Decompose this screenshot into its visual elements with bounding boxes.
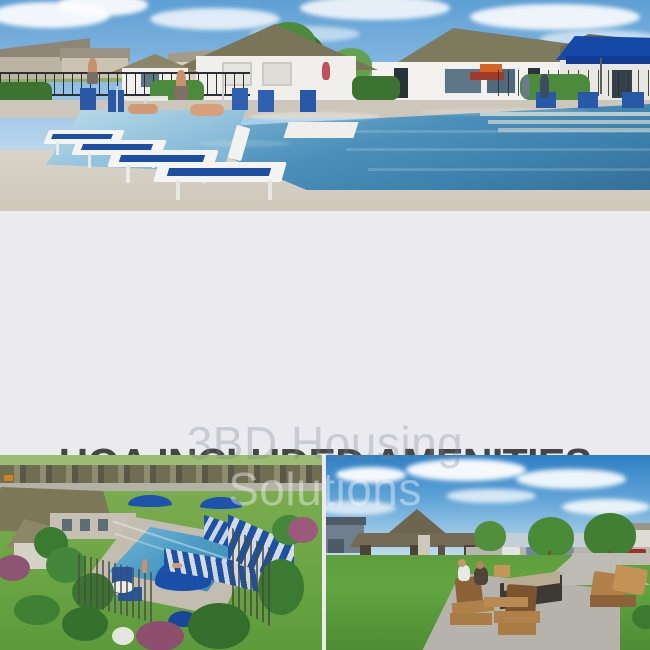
cloud xyxy=(516,469,626,489)
cloud xyxy=(150,8,280,30)
pool-ladder xyxy=(116,86,118,112)
lounge-chair xyxy=(283,122,358,138)
person-head xyxy=(458,559,466,567)
window xyxy=(262,62,292,86)
flowering-shrub xyxy=(112,627,134,645)
pool-step xyxy=(480,112,650,116)
bottom-right-pavilion-image xyxy=(326,455,650,650)
patio-chair xyxy=(300,90,316,112)
cloud xyxy=(446,489,536,503)
parked-car xyxy=(502,547,520,555)
adirondack-chair-seat xyxy=(494,611,540,623)
amenities-text-band: HOA INCLUDED AMENITIES Swimming Pool • P… xyxy=(0,211,650,455)
distant-house-roof xyxy=(326,517,366,525)
person xyxy=(322,62,330,80)
water-ripple xyxy=(250,112,380,121)
flowering-shrub xyxy=(136,621,184,650)
cloud xyxy=(470,4,640,30)
adirondack-chair-seat xyxy=(590,595,636,607)
window xyxy=(80,519,90,531)
person-seated xyxy=(474,567,488,585)
amenities-marketing-card: HOA INCLUDED AMENITIES Swimming Pool • P… xyxy=(0,0,650,650)
person xyxy=(522,76,530,98)
adirondack-chair-arm xyxy=(484,597,528,607)
garage-door xyxy=(328,539,344,553)
patio-chair xyxy=(578,92,598,108)
pool-step xyxy=(488,120,650,124)
pool-lane-line xyxy=(346,148,650,151)
lounge-chair xyxy=(150,150,290,202)
patio-chair xyxy=(258,90,274,112)
pool-step xyxy=(498,128,650,132)
shade-canopy-edge xyxy=(566,56,650,64)
side-table xyxy=(494,565,510,577)
shrub xyxy=(14,595,60,625)
adirondack-chair xyxy=(612,564,648,595)
person xyxy=(540,74,549,98)
person xyxy=(142,559,147,573)
flowering-shrub xyxy=(288,517,318,543)
cloud xyxy=(336,467,406,483)
construction-vehicle xyxy=(4,475,13,481)
patio-chair xyxy=(232,88,248,110)
person-seated xyxy=(128,104,158,114)
patio-chair xyxy=(622,92,644,108)
person-seated xyxy=(458,565,470,581)
window xyxy=(62,519,72,531)
hedge xyxy=(352,76,400,100)
person xyxy=(172,563,182,568)
patio-umbrella xyxy=(200,497,242,509)
tree xyxy=(474,521,506,551)
cloud xyxy=(406,459,526,481)
person-head xyxy=(476,561,484,569)
patio-table xyxy=(126,96,168,101)
tree xyxy=(528,517,574,557)
image-divider xyxy=(322,455,326,650)
chair-footrest xyxy=(498,623,536,635)
patio-umbrella xyxy=(128,495,172,507)
person xyxy=(87,72,98,84)
bottom-left-aerial-pool-image xyxy=(0,455,322,650)
chair-footrest xyxy=(450,613,492,625)
shrub xyxy=(62,607,108,641)
window xyxy=(98,519,108,531)
person-seated xyxy=(190,104,224,116)
walking-path xyxy=(572,553,650,565)
hero-pool-image xyxy=(0,0,650,211)
person-shorts xyxy=(174,86,188,100)
patio-chair xyxy=(80,88,96,110)
pool-lane-line xyxy=(368,168,650,171)
